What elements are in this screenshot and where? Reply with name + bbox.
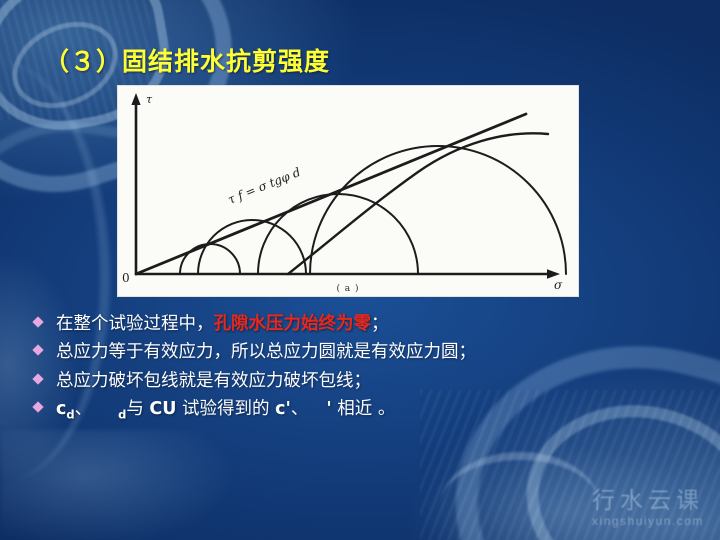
diamond-bullet-icon bbox=[32, 316, 43, 327]
envelope-equation-label: τ f = σ tgφ d bbox=[226, 165, 303, 207]
diamond-bullet-icon bbox=[32, 401, 43, 412]
mohr-circle-diagram: τ σ 0 τ f = σ tgφ d bbox=[118, 86, 578, 296]
cu-test-label: CU bbox=[149, 399, 176, 419]
bullet-3-text: 总应力破坏包线就是有效应力破坏包线； bbox=[56, 369, 371, 394]
mohr-circle-figure: τ σ 0 τ f = σ tgφ d ( a ) bbox=[118, 86, 578, 296]
list-item: cd、d与 CU 试验得到的 c'、' 相近 。 bbox=[34, 397, 694, 423]
bullet-4-text: cd、d与 CU 试验得到的 c'、' 相近 。 bbox=[56, 397, 395, 423]
cohesion-symbol: c bbox=[56, 399, 66, 419]
bullet-1-seg-highlight: 孔隙水压力始终为零 bbox=[214, 314, 372, 334]
y-axis-arrowhead bbox=[131, 93, 140, 105]
slide-title: （３）固结排水抗剪强度 bbox=[44, 42, 330, 78]
list-item: 在整个试验过程中，孔隙水压力始终为零； bbox=[34, 312, 694, 337]
list-item: 总应力破坏包线就是有效应力破坏包线； bbox=[34, 369, 694, 394]
curved-strength-envelope bbox=[288, 133, 548, 274]
mohr-circle-2 bbox=[198, 220, 306, 274]
cohesion-subscript: d bbox=[66, 408, 74, 422]
list-item: 总应力等于有效应力，所以总应力圆就是有效应力圆； bbox=[34, 340, 694, 365]
wave-crest-bottom-right bbox=[440, 452, 600, 540]
wave-band-bottom bbox=[0, 430, 720, 540]
watermark-cn-text: 行水云课 bbox=[592, 481, 704, 515]
bullet-1-seg-tail: ； bbox=[371, 314, 389, 334]
separator-2: 、 bbox=[291, 399, 309, 419]
mohr-circle-1 bbox=[180, 244, 240, 274]
y-axis-label: τ bbox=[146, 93, 153, 106]
bullet-1-seg-plain: 在整个试验过程中， bbox=[56, 314, 214, 334]
conjunction-text: 与 bbox=[126, 399, 149, 419]
effective-cohesion-symbol: c' bbox=[275, 399, 291, 419]
diamond-bullet-icon bbox=[32, 373, 43, 384]
failure-envelope-line bbox=[136, 114, 526, 274]
separator-1: 、 bbox=[75, 399, 93, 419]
diamond-bullet-icon bbox=[32, 345, 43, 356]
test-result-text: 试验得到的 bbox=[176, 399, 275, 419]
watermark: 行水云课 xingshuiyun.com bbox=[592, 481, 704, 528]
bullet-list: 在整个试验过程中，孔隙水压力始终为零； 总应力等于有效应力，所以总应力圆就是有效… bbox=[34, 312, 694, 426]
slide-canvas: （３）固结排水抗剪强度 τ σ bbox=[0, 0, 720, 540]
origin-label: 0 bbox=[122, 271, 130, 285]
watermark-url-text: xingshuiyun.com bbox=[592, 514, 704, 528]
bullet-2-text: 总应力等于有效应力，所以总应力圆就是有效应力圆； bbox=[56, 340, 476, 365]
bullet-1-text: 在整个试验过程中，孔隙水压力始终为零； bbox=[56, 312, 389, 337]
figure-caption: ( a ) bbox=[118, 284, 578, 294]
bullet-4-tail: 相近 。 bbox=[332, 399, 396, 419]
mohr-circle-4 bbox=[310, 146, 566, 274]
